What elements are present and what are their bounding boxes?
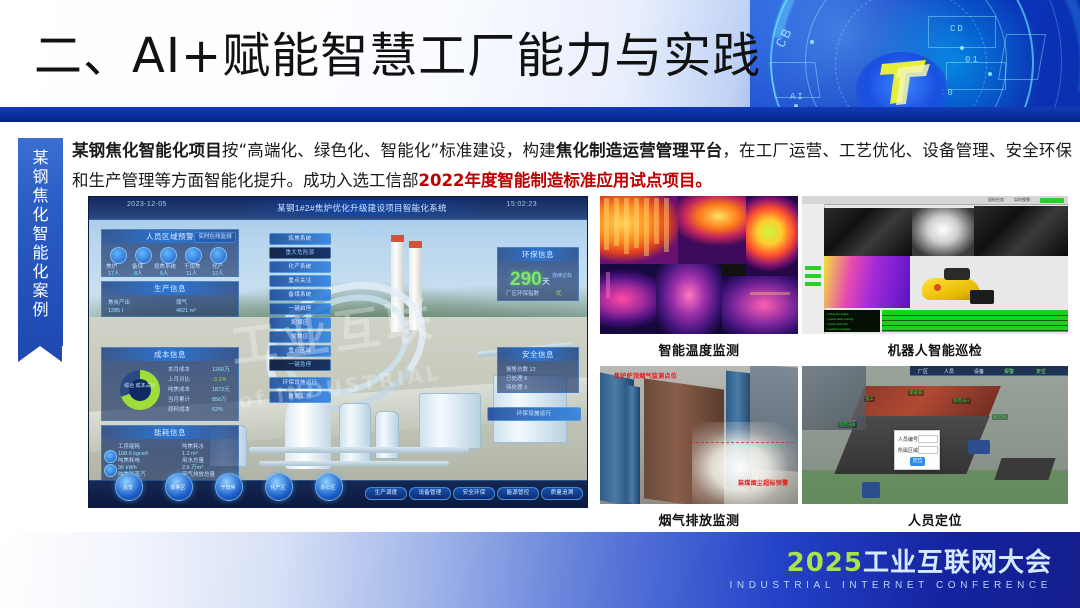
photo-personnel-location[interactable]: 厂区 人员 设备 报警 定位 张工 李班长 巡检员A 巡检员B 安全员 人员编号…	[802, 366, 1068, 504]
tech-glyph-3: 01	[965, 55, 980, 65]
thermal-stripe-5	[644, 198, 649, 256]
page-title: 二、AI+赋能智慧工厂能力与实践	[34, 18, 761, 94]
panel-cost[interactable]: 成本信息 综合 成本占比 本月成本 1260万 上月对比 -3.1% 吨焦成本 …	[101, 347, 239, 421]
slide-root: CB CD 01 10 AI 二、AI+赋能智慧工厂能力与实践 某 钢 焦 化 …	[0, 0, 1080, 608]
personnel-tag-0[interactable]: 张工	[864, 396, 875, 402]
thermal-cell-5	[656, 264, 722, 334]
thermal-stripe-9	[750, 292, 790, 295]
nav-pill-1[interactable]: 设备管理	[409, 487, 451, 500]
cost-val-4: 856万	[212, 396, 227, 404]
conference-logo-en: INDUSTRIAL INTERNET CONFERENCE	[730, 580, 1052, 591]
environment-sub-value: 优	[556, 290, 562, 298]
slide-header: CB CD 01 10 AI 二、AI+赋能智慧工厂能力与实践	[0, 0, 1080, 122]
plant-pipe-1	[249, 447, 469, 453]
area-icon-2[interactable]	[135, 247, 152, 264]
robot-terminal-line-2: > temp scan OK	[826, 322, 848, 326]
cost-row-3: 吨焦成本	[168, 386, 190, 394]
environment-days-value: 290	[510, 270, 542, 290]
caption-smoke: 烟气排放监测	[600, 510, 798, 529]
panel-environment-header: 环保信息	[498, 248, 578, 261]
prod-value-2: 4821 m³	[176, 307, 196, 315]
conference-logo: 2025工业互联网大会 INDUSTRIAL INTERNET CONFEREN…	[730, 548, 1052, 591]
smoke-measure-line	[686, 442, 794, 443]
environment-sub-label: 厂区环保指数	[506, 290, 539, 298]
cost-val-5: 62%	[212, 406, 223, 414]
personnel-topbar-item-3[interactable]: 报警	[1004, 368, 1014, 375]
alarm-row-0: 报警总数 12	[506, 366, 536, 374]
thermal-stripe-4	[634, 198, 639, 248]
nav-pill-2[interactable]: 安全环保	[453, 487, 495, 500]
environment-days-unit: 天	[542, 276, 550, 287]
alarm-row-2: 待处理 3	[506, 384, 527, 392]
robot-terminal: > robot-01 online > patrol task running …	[824, 310, 880, 332]
personnel-topbar-item-2[interactable]: 设备	[974, 368, 984, 375]
cost-row-5: 原料成本	[168, 406, 190, 414]
panel-production-header: 生产信息	[102, 282, 238, 295]
thermal-cell-3	[746, 196, 798, 276]
robot-camera-view-1[interactable]	[824, 208, 912, 256]
personnel-topbar-item-1[interactable]: 人员	[944, 368, 954, 375]
thermal-stripe-6	[654, 198, 659, 244]
robot-data-table[interactable]	[882, 310, 1068, 332]
robot-table-row-1	[882, 315, 1068, 316]
thermal-cell-2	[678, 196, 746, 264]
robot-thermal-view[interactable]	[824, 256, 910, 308]
dash-system-title: 某钢1#2#焦炉优化升级建设项目智能化系统	[237, 200, 487, 216]
process-menu-item-3[interactable]: 重点关注	[269, 275, 331, 287]
thermal-stripe-1	[604, 198, 609, 250]
tech-glyph-2: CD	[950, 24, 965, 34]
thermal-stripe-7	[664, 198, 669, 252]
thermal-stripe-3	[624, 198, 629, 254]
ribbon-char-5: 能	[18, 243, 63, 262]
body-seg-platform: 焦化制造运营管理平台	[556, 141, 723, 160]
dash-env-summary-button[interactable]: 环保设施运行	[487, 407, 581, 421]
personnel-tag-4[interactable]: 安全员	[992, 414, 1008, 420]
energy-icon-1	[104, 450, 117, 463]
nav-orb-label-1: 炼焦区	[165, 475, 191, 501]
personnel-shed	[994, 458, 1055, 480]
panel-production[interactable]: 生产信息 焦炭产出 1285 t 煤气 4821 m³	[101, 281, 239, 317]
nav-pill-4[interactable]: 质量追溯	[541, 487, 583, 500]
header-tech-graphic: CB CD 01 10 AI	[750, 0, 1080, 122]
ribbon-char-2: 焦	[18, 186, 63, 205]
cost-val-2: -3.1%	[212, 376, 226, 384]
robot-terminal-line-1: > patrol task running	[826, 317, 853, 321]
ribbon-char-7: 案	[18, 281, 63, 300]
personnel-dialog-input-2[interactable]	[918, 446, 938, 454]
robot-table-row-4	[882, 330, 1068, 331]
panel-cost-header: 成本信息	[102, 348, 238, 361]
plant-pipe-2	[259, 461, 449, 466]
robot-side-chip-3	[805, 282, 821, 286]
process-menu-item-4[interactable]: 备煤系统	[269, 289, 331, 301]
nav-orb-label-2: 干熄焦	[215, 475, 241, 501]
personnel-info-dialog[interactable]: 人员编号： 所属区域： 定位	[894, 430, 940, 470]
robot-topbar-item-0[interactable]: 巡检任务	[988, 197, 1004, 203]
cost-row-2: 上月对比	[168, 376, 190, 384]
nav-pill-0[interactable]: 生产调度	[365, 487, 407, 500]
personnel-tag-2[interactable]: 巡检员A	[952, 398, 971, 404]
caption-thermal: 智能温度监测	[600, 340, 798, 359]
personnel-background-structure	[802, 366, 866, 430]
process-menu-item-9[interactable]: 一键急停	[269, 359, 331, 371]
personnel-blue-container-2	[862, 482, 880, 498]
cost-row-4: 当月累计	[168, 396, 190, 404]
cost-row-1: 本月成本	[168, 366, 190, 374]
robot-topbar-status-chip	[1040, 198, 1064, 203]
prod-value-1: 1285 t	[108, 307, 123, 315]
body-seg-2: 按“高端化、绿色化、智能化”标准建设，构建	[222, 141, 556, 160]
process-menu-item-6[interactable]: 配煤区	[269, 317, 331, 329]
dash-date-label: 2023-12-05	[127, 201, 167, 208]
cost-donut-chart	[120, 370, 160, 410]
area-value-4: 11人	[186, 270, 197, 278]
ribbon-char-1: 钢	[18, 167, 63, 186]
panel-environment[interactable]: 环保信息 290 天 连续达标 厂区环保指数 优	[497, 247, 579, 301]
smoke-steel-frame-2	[626, 385, 640, 504]
area-value-1: 17人	[108, 270, 120, 278]
personnel-blue-container-1	[968, 440, 990, 454]
process-menu-item-8[interactable]: 重点区域	[269, 345, 331, 357]
body-seg-project: 某钢焦化智能化项目	[72, 141, 222, 160]
robot-table-row-2	[882, 320, 1068, 321]
personnel-topbar-item-0[interactable]: 厂区	[918, 368, 928, 375]
smoke-top-label: 焦炉炉顶烟气监测点位	[614, 371, 677, 380]
robot-camera-view-2[interactable]	[912, 208, 974, 256]
panel-area-monitor[interactable]: 人员区域预警 实时在线监测 焦炉 备煤 熄焦系统 干熄焦 化产 17人 8人 5…	[101, 229, 239, 277]
header-bottom-bar	[0, 107, 1080, 122]
area-value-2: 8人	[134, 270, 143, 278]
tech-box-3	[998, 34, 1046, 80]
panel-area-monitor-chip[interactable]: 实时在线监测	[194, 232, 236, 243]
photo-smoke-monitoring[interactable]: 焦炉炉顶烟气监测点位 装煤烟尘超标预警	[600, 366, 798, 504]
cost-donut-label: 综合 成本占比	[123, 383, 157, 390]
robot-terminal-line-0: > robot-01 online	[826, 312, 849, 316]
body-seg-highlight: 2022年度智能制造标准应用试点项目。	[419, 171, 712, 190]
prod-label-1: 焦炭产出	[108, 299, 130, 307]
process-menu-item-0[interactable]: 炼焦系统	[269, 233, 331, 245]
process-menu-item-5[interactable]: 一键启停	[269, 303, 331, 315]
nav-pill-3[interactable]: 能源管控	[497, 487, 539, 500]
smoke-alert-label: 装煤烟尘超标预警	[738, 478, 788, 487]
conference-t-logo-icon	[876, 58, 936, 106]
personnel-dialog-locate-button[interactable]: 定位	[910, 457, 925, 466]
robot-topbar-item-1[interactable]: 实时视频	[1014, 197, 1030, 203]
area-icon-1[interactable]	[110, 247, 127, 264]
area-icon-3[interactable]	[160, 247, 177, 264]
thermal-cell-6	[722, 276, 798, 334]
nav-orb-label-3: 化产区	[265, 475, 291, 501]
prod-label-2: 煤气	[176, 299, 187, 307]
ribbon-char-3: 化	[18, 205, 63, 224]
robot-side-chip-2	[805, 274, 821, 278]
case-ribbon-tail	[18, 346, 62, 362]
ribbon-char-8: 例	[18, 300, 63, 319]
personnel-tag-3[interactable]: 巡检员B	[838, 422, 857, 428]
tech-dot-1	[960, 46, 964, 50]
personnel-dialog-input-1[interactable]	[918, 435, 938, 443]
dash-center-logo	[357, 219, 391, 235]
personnel-topbar-item-4[interactable]: 定位	[1036, 368, 1046, 375]
panel-alarm[interactable]: 安全信息 报警总数 12 已处理 9 待处理 3	[497, 347, 579, 393]
thermal-stripe-8	[606, 272, 610, 298]
plant-tank-1	[339, 403, 371, 463]
photo-robot-inspection[interactable]: 巡检任务 实时视频 > robot-01 online > patrol tas…	[802, 196, 1068, 334]
process-menu-item-2[interactable]: 化产系统	[269, 261, 331, 273]
body-paragraph: 某钢焦化智能化项目按“高端化、绿色化、智能化”标准建设，构建焦化制造运营管理平台…	[72, 136, 1072, 196]
ribbon-char-4: 智	[18, 224, 63, 243]
cost-val-1: 1260万	[212, 366, 230, 374]
cost-val-3: 1872元	[212, 386, 230, 394]
conference-logo-cn: 工业互联网大会	[863, 548, 1052, 578]
conference-logo-main: 2025工业互联网大会	[730, 548, 1052, 578]
caption-personnel: 人员定位	[802, 510, 1068, 529]
process-menu-item-11[interactable]: 数据汇总	[269, 391, 331, 403]
tech-dot-2	[988, 72, 992, 76]
dash-time-label: 15:02:23	[507, 201, 537, 208]
personnel-tag-1[interactable]: 李班长	[908, 390, 924, 396]
panel-energy[interactable]: 能耗信息 工序能耗 108.6 kgce/t 吨焦耗水 1.2 m³ 吨焦耗电 …	[101, 425, 239, 481]
process-menu-item-10[interactable]: 环保设施运行	[269, 377, 331, 389]
smoke-plume	[692, 422, 798, 504]
environment-days-label: 连续达标	[552, 272, 572, 279]
photo-thermal-monitoring[interactable]	[600, 196, 798, 334]
area-value-3: 5人	[160, 270, 169, 278]
tech-dot-3	[810, 40, 814, 44]
robot-terminal-line-3: > upload complete	[826, 327, 851, 331]
nav-orb-label-0: 总览	[115, 475, 141, 501]
ribbon-char-6: 化	[18, 262, 63, 281]
tech-box-2	[946, 62, 1006, 90]
process-menu-item-1[interactable]: 重大危险源	[269, 247, 331, 259]
dashboard-screenshot[interactable]: 2023-12-05 某钢1#2#焦炉优化升级建设项目智能化系统 15:02:2…	[88, 196, 588, 508]
tech-glyph-5: AI	[790, 92, 805, 102]
personnel-building-roof	[851, 386, 1001, 420]
area-icon-5[interactable]	[210, 247, 227, 264]
nav-orb-label-4: 办公区	[315, 475, 341, 501]
robot-camera-view-3[interactable]	[974, 206, 1068, 256]
robot-side-chip-1	[805, 266, 821, 270]
thermal-stripe-2	[614, 198, 619, 246]
case-ribbon: 某 钢 焦 化 智 能 化 案 例	[18, 138, 63, 346]
conference-logo-year: 2025	[787, 548, 863, 578]
area-icon-4[interactable]	[185, 247, 202, 264]
area-value-5: 12人	[212, 270, 224, 278]
caption-robot: 机器人智能巡检	[802, 340, 1068, 359]
plant-building-1	[419, 393, 481, 449]
robot-table-row-3	[882, 325, 1068, 326]
ribbon-char-0: 某	[18, 148, 63, 167]
panel-alarm-header: 安全信息	[498, 348, 578, 361]
robot-photo	[918, 258, 998, 308]
panel-energy-header: 能耗信息	[102, 426, 238, 439]
process-menu-item-7[interactable]: 熄焦区	[269, 331, 331, 343]
alarm-row-1: 已处理 9	[506, 375, 527, 383]
